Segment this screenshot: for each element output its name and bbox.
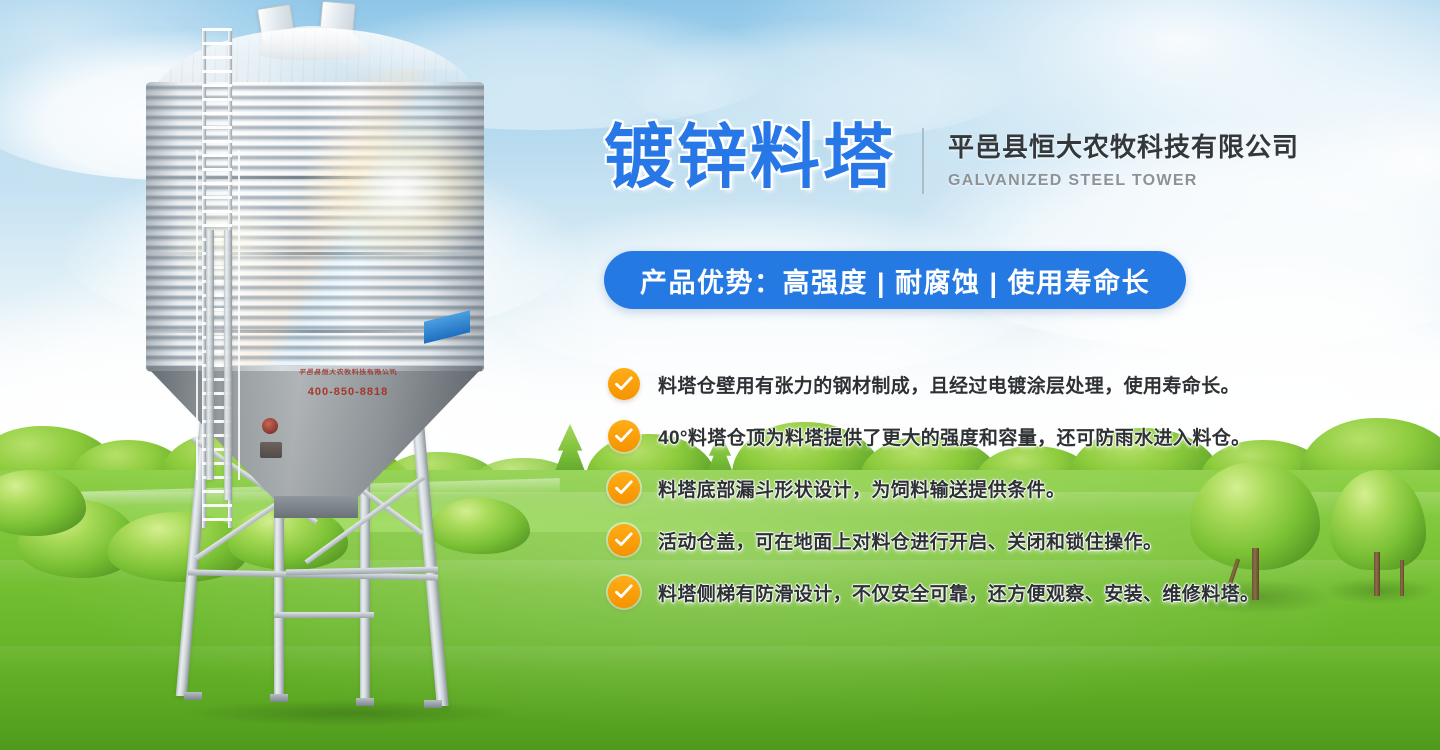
company-subtitle-en: GALVANIZED STEEL TOWER [948, 172, 1299, 190]
product-hero-banner: 平邑县恒大农牧科技有限公司 400-850-8818 镀锌料塔 平邑县恒大农牧科… [0, 0, 1440, 750]
feature-text: 活动仓盖，可在地面上对料仓进行开启、关闭和锁住操作。 [658, 527, 1162, 554]
galvanized-steel-tower-image: 平邑县恒大农牧科技有限公司 400-850-8818 [88, 0, 558, 750]
silo-ladder-post [224, 230, 232, 500]
feature-item: 活动仓盖，可在地面上对料仓进行开启、关闭和锁住操作。 [608, 514, 1308, 566]
title-row: 镀锌料塔 平邑县恒大农牧科技有限公司 GALVANIZED STEEL TOWE… [604, 118, 1299, 196]
silo-leg [411, 414, 449, 706]
silo-foot [270, 694, 288, 702]
feature-text: 料塔侧梯有防滑设计，不仅安全可靠，还方便观察、安装、维修料塔。 [658, 579, 1259, 606]
check-circle-icon [608, 368, 640, 400]
silo-brand-text: 平邑县恒大农牧科技有限公司 [278, 362, 417, 386]
silo-ladder-cage [196, 150, 240, 480]
silo-foot [356, 698, 374, 706]
page-title: 镀锌料塔 [604, 118, 896, 196]
product-advantages-label: 产品优势：高强度 | 耐腐蚀 | 使用寿命长 [640, 261, 1150, 300]
hero-text-panel: 镀锌料塔 平邑县恒大农牧科技有限公司 GALVANIZED STEEL TOWE… [604, 0, 1304, 750]
silo-valve [262, 418, 278, 434]
title-divider [922, 128, 924, 194]
silo-ladder-post [206, 230, 214, 480]
check-circle-icon [608, 472, 640, 504]
silo-phone-text: 400-850-8818 [284, 386, 412, 398]
silo-foot [424, 700, 442, 708]
check-circle-icon [608, 420, 640, 452]
silo-outlet [274, 496, 358, 518]
silo-ring-beam [274, 612, 374, 618]
silo-ground-shadow [184, 700, 514, 726]
feature-text: 40°料塔仓顶为料塔提供了更大的强度和容量，还可防雨水进入料仓。 [658, 423, 1251, 450]
feature-item: 40°料塔仓顶为料塔提供了更大的强度和容量，还可防雨水进入料仓。 [608, 410, 1308, 462]
check-circle-icon [608, 524, 640, 556]
title-right-block: 平邑县恒大农牧科技有限公司 GALVANIZED STEEL TOWER [948, 118, 1299, 190]
feature-text: 料塔底部漏斗形状设计，为饲料输送提供条件。 [658, 475, 1065, 502]
feature-item: 料塔仓壁用有张力的钢材制成，且经过电镀涂层处理，使用寿命长。 [608, 358, 1308, 410]
silo-inspection-port [260, 442, 282, 458]
silo-foot [184, 692, 202, 700]
feature-list: 料塔仓壁用有张力的钢材制成，且经过电镀涂层处理，使用寿命长。40°料塔仓顶为料塔… [608, 358, 1308, 618]
product-advantages-badge: 产品优势：高强度 | 耐腐蚀 | 使用寿命长 [604, 251, 1186, 309]
company-name: 平邑县恒大农牧科技有限公司 [948, 130, 1299, 164]
feature-item: 料塔底部漏斗形状设计，为饲料输送提供条件。 [608, 462, 1308, 514]
feature-text: 料塔仓壁用有张力的钢材制成，且经过电镀涂层处理，使用寿命长。 [658, 371, 1240, 398]
feature-item: 料塔侧梯有防滑设计，不仅安全可靠，还方便观察、安装、维修料塔。 [608, 566, 1308, 618]
check-circle-icon [608, 576, 640, 608]
